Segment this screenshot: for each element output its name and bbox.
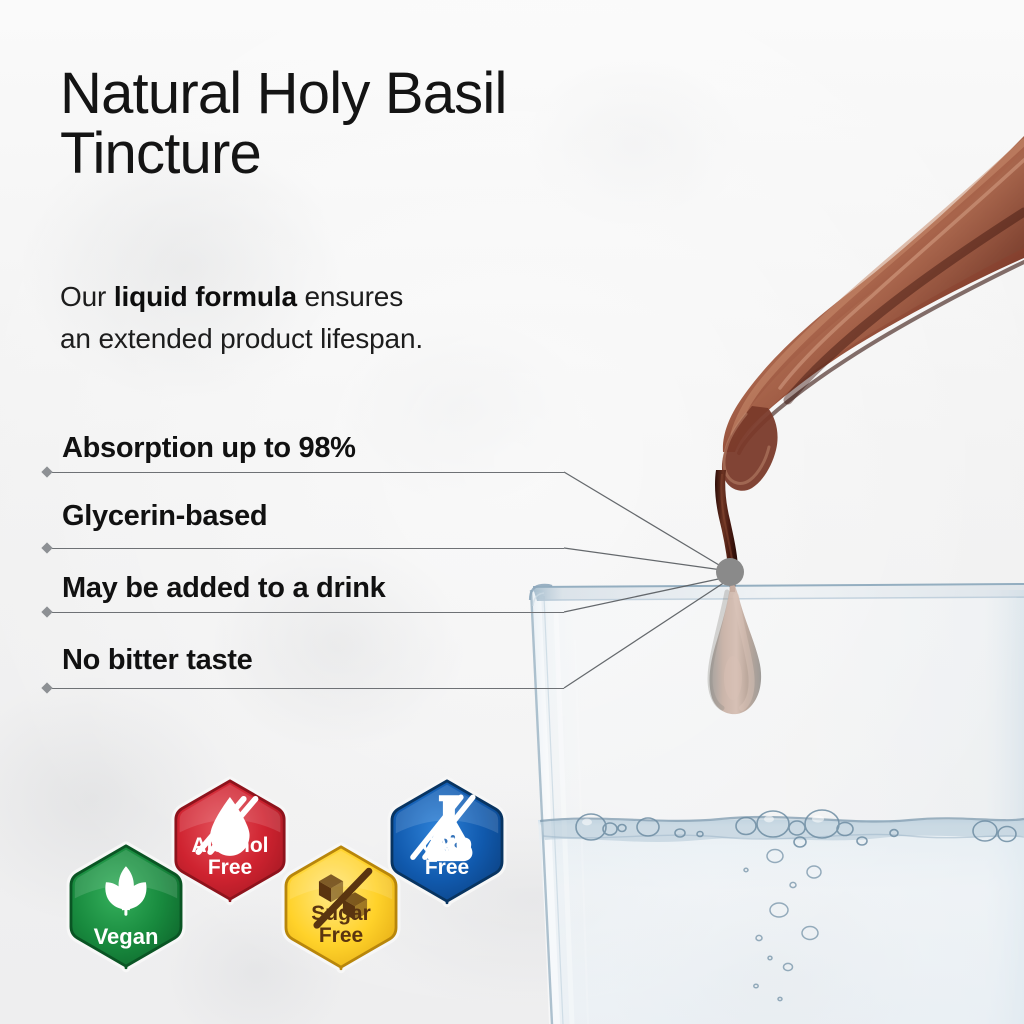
subtitle-emphasis: liquid formula	[114, 281, 297, 312]
badge-alcohol-free: AlcoholFree	[167, 777, 293, 903]
page-subtitle: Our liquid formula ensuresan extended pr…	[60, 276, 620, 360]
feature-label-2: Glycerin-based	[62, 500, 267, 533]
subtitle-line-1: Our liquid formula ensures	[60, 276, 620, 318]
leader-hub	[716, 558, 744, 586]
feature-rule-1	[52, 472, 564, 473]
feature-label-4: No bitter taste	[62, 644, 252, 677]
feature-label-3: May be added to a drink	[62, 572, 385, 605]
leader-line-3	[564, 578, 723, 612]
subtitle-line-2: an extended product lifespan.	[60, 318, 620, 360]
badge-gmo-free: GMOFree	[383, 777, 511, 905]
feature-label-1: Absorption up to 98%	[62, 432, 356, 465]
subtitle-suffix: ensures	[297, 281, 403, 312]
subtitle-prefix: Our	[60, 281, 114, 312]
leader-line-4	[564, 582, 725, 688]
leader-line-2	[564, 548, 722, 570]
leader-line-1	[564, 472, 724, 568]
infographic-canvas: Natural Holy Basil Tincture Our liquid f…	[0, 0, 1024, 1024]
feature-rule-3	[52, 612, 564, 613]
feature-rule-2	[52, 548, 564, 549]
page-title: Natural Holy Basil Tincture	[60, 64, 760, 183]
page-title-text: Natural Holy Basil Tincture	[60, 61, 507, 186]
feature-rule-4	[52, 688, 564, 689]
